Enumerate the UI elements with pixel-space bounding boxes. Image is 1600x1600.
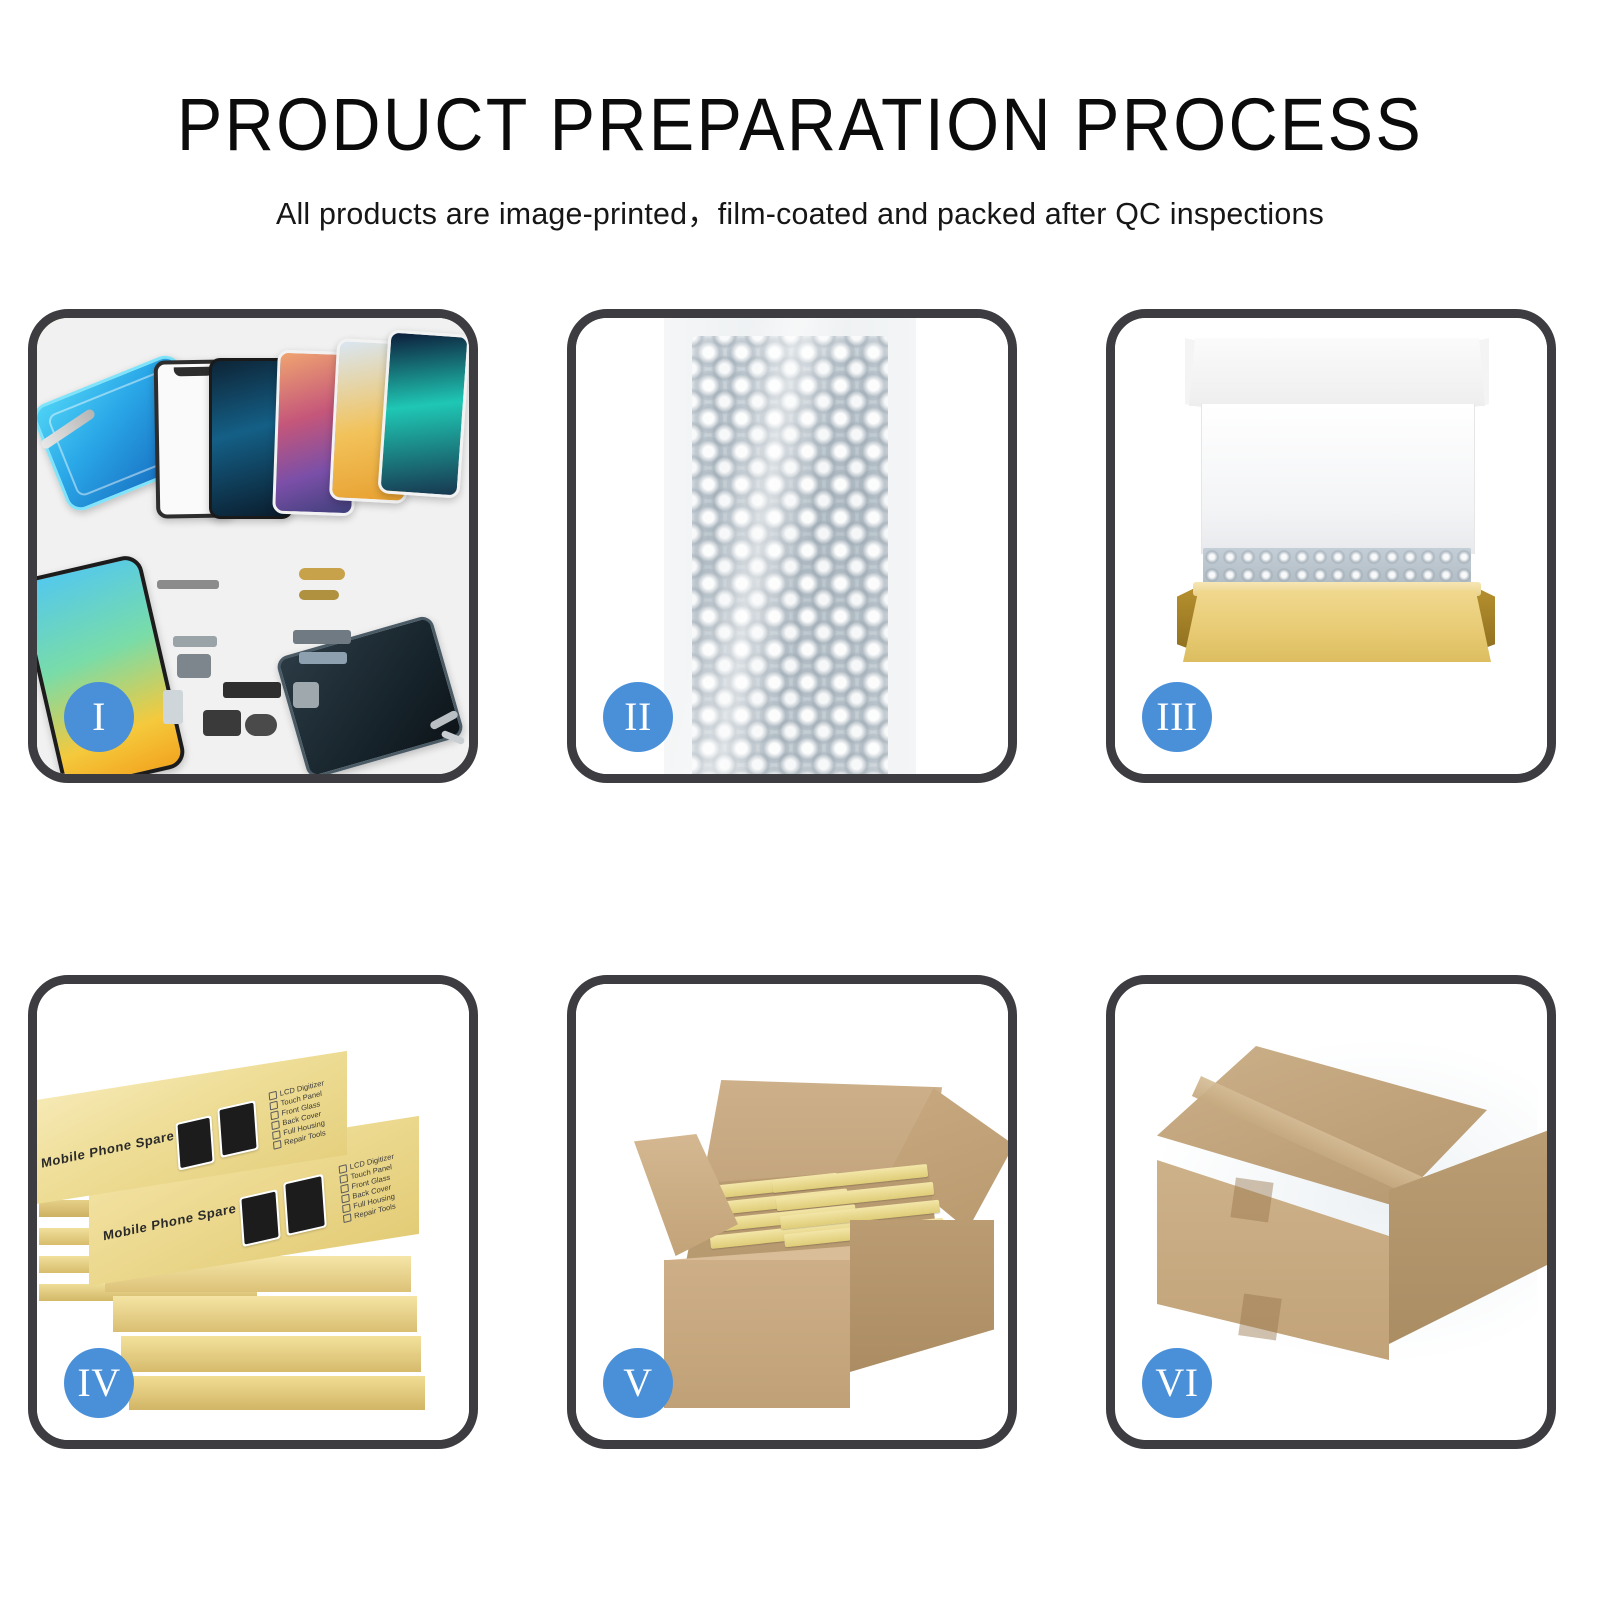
earpiece-mesh [157,580,219,589]
connector-strip [173,636,217,647]
battery-connector [223,682,281,698]
box-art-screen-b-back [217,1100,258,1158]
step-panel-3: III [1106,309,1556,783]
sim-tray [163,690,183,724]
step-panel-6: VI [1106,975,1556,1449]
step-panel-1: I [28,309,478,783]
flex-cable-small [299,590,339,600]
vibration-motor [293,682,319,708]
box-front-face [1183,590,1491,662]
step-badge-1: I [64,682,134,752]
carton-seam-upper [1230,1178,1273,1223]
step-badge-4: IV [64,1348,134,1418]
stacked-box-front-3 [113,1296,417,1332]
step-panel-2: II [567,309,1017,783]
taptic-engine [245,714,277,736]
process-steps-grid: I II III [0,0,1600,1600]
carton-seam-lower [1238,1294,1281,1341]
flex-cable-gold [299,568,345,580]
bubble-wrap-texture [692,336,888,774]
step-panel-5: V [567,975,1017,1449]
ribbon-cable [293,630,351,644]
carton-front-face [664,1260,850,1408]
speaker-module [203,710,241,736]
box-inner-liner [1201,404,1475,554]
box-lid [1189,338,1485,406]
step-badge-5: V [603,1348,673,1418]
step-panel-4: Mobile Phone Spare Parts LCD Digitizer T… [28,975,478,1449]
box-art-screen-a-front [239,1189,280,1247]
stacked-box-front-5 [129,1376,425,1410]
step-badge-3: III [1142,682,1212,752]
box-art-screen-b-front [283,1174,327,1236]
stacked-box-front-4 [121,1336,421,1372]
box-art-screen-a-back [175,1115,214,1171]
step-badge-2: II [603,682,673,752]
side-button-flex [299,652,347,664]
step-badge-6: VI [1142,1348,1212,1418]
phone-teal-display [377,329,469,498]
camera-module [177,654,211,678]
